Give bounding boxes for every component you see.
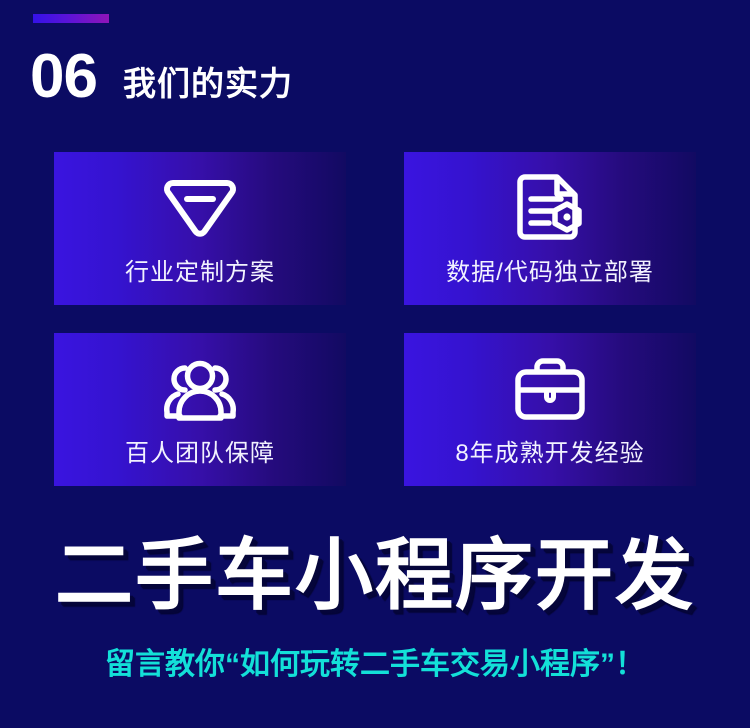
section-number: 06: [30, 52, 97, 103]
diamond-icon: [163, 172, 237, 244]
feature-card-label: 行业定制方案: [125, 260, 275, 286]
feature-card[interactable]: 8年成熟开发经验: [404, 333, 696, 486]
accent-bar: [33, 14, 109, 23]
feature-card[interactable]: 百人团队保障: [54, 333, 346, 486]
feature-card[interactable]: 行业定制方案: [54, 152, 346, 305]
briefcase-icon: [513, 353, 587, 425]
feature-card-grid: 行业定制方案 数据/代码独立部署: [54, 152, 696, 486]
feature-card-label: 数据/代码独立部署: [446, 260, 654, 286]
promo-headline: 二手车小程序开发: [0, 536, 750, 614]
feature-card[interactable]: 数据/代码独立部署: [404, 152, 696, 305]
feature-card-label: 百人团队保障: [125, 441, 275, 467]
document-settings-icon: [515, 172, 585, 244]
section-header: 06 我们的实力: [30, 52, 293, 103]
people-group-icon: [160, 353, 240, 425]
page-title: 我们的实力: [123, 67, 293, 103]
promo-page: 06 我们的实力 行业定制方案: [0, 0, 750, 728]
promo-subtitle: 留言教你“如何玩转二手车交易小程序”！: [0, 648, 750, 681]
feature-card-label: 8年成熟开发经验: [455, 441, 644, 467]
